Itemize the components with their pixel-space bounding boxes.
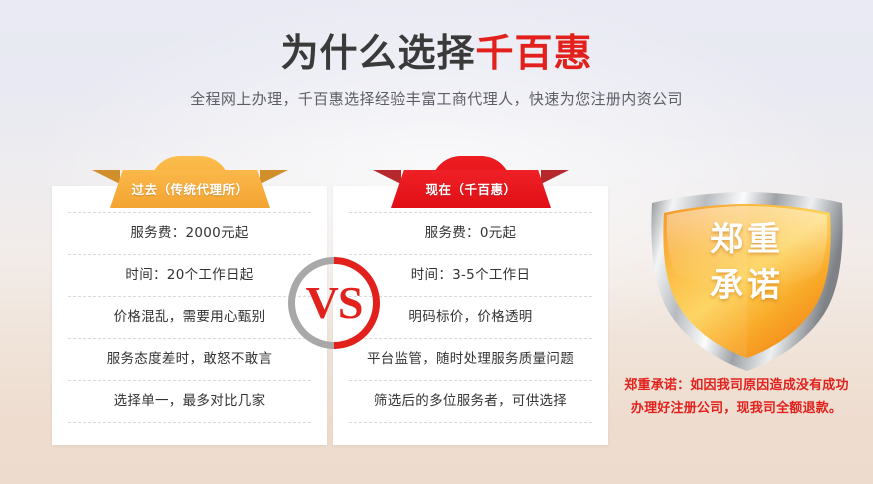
list-item: 时间：20个工作日起 <box>68 255 311 297</box>
vs-badge: VS <box>288 257 380 349</box>
ribbon-past-label: 过去（传统代理所） <box>92 170 288 208</box>
list-item: 服务态度差时，敢怒不敢言 <box>68 339 311 381</box>
promise-line-2: 办理好注册公司，现我司全额退款。 <box>600 397 873 420</box>
present-feature-list: 服务费：0元起 时间：3-5个工作日 明码标价，价格透明 平台监管，随时处理服务… <box>349 212 592 423</box>
shield-icon <box>638 190 856 373</box>
list-item: 价格混乱，需要用心甄别 <box>68 297 311 339</box>
vs-label: VS <box>288 257 380 349</box>
list-item: 服务费：0元起 <box>349 212 592 255</box>
promise-text: 郑重承诺：如因我司原因造成没有成功 办理好注册公司，现我司全额退款。 <box>600 374 873 420</box>
page-title-accent: 千百惠 <box>476 31 593 75</box>
ribbon-present: 现在（千百惠） <box>373 156 569 208</box>
list-item: 明码标价，价格透明 <box>349 297 592 339</box>
page-title: 为什么选择千百惠 <box>0 30 873 76</box>
shield-left-shade <box>663 204 747 358</box>
promo-banner: 为什么选择千百惠 全程网上办理，千百惠选择经验丰富工商代理人，快速为您注册内资公… <box>0 0 873 484</box>
promise-line-1: 郑重承诺：如因我司原因造成没有成功 <box>600 374 873 397</box>
ribbon-past: 过去（传统代理所） <box>92 156 288 208</box>
page-subtitle: 全程网上办理，千百惠选择经验丰富工商代理人，快速为您注册内资公司 <box>0 88 873 110</box>
shield-badge: 郑重 承诺 <box>638 190 856 373</box>
ribbon-present-label: 现在（千百惠） <box>373 170 569 208</box>
past-feature-list: 服务费：2000元起 时间：20个工作日起 价格混乱，需要用心甄别 服务态度差时… <box>68 212 311 423</box>
comparison-card-past: 服务费：2000元起 时间：20个工作日起 价格混乱，需要用心甄别 服务态度差时… <box>52 186 327 445</box>
list-item: 选择单一，最多对比几家 <box>68 381 311 423</box>
banner-header: 为什么选择千百惠 全程网上办理，千百惠选择经验丰富工商代理人，快速为您注册内资公… <box>0 30 873 110</box>
list-item: 服务费：2000元起 <box>68 212 311 255</box>
list-item: 时间：3-5个工作日 <box>349 255 592 297</box>
list-item: 平台监管，随时处理服务质量问题 <box>349 339 592 381</box>
page-title-plain: 为什么选择 <box>280 31 475 75</box>
list-item: 筛选后的多位服务者，可供选择 <box>349 381 592 423</box>
